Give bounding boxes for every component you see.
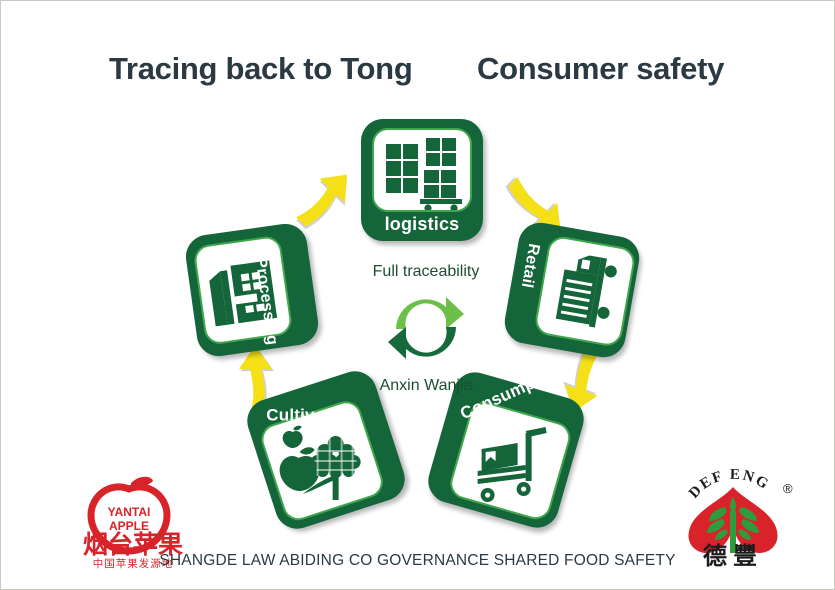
- page-title-right: Consumer safety: [477, 51, 724, 87]
- apple-tree-icon: [273, 412, 377, 512]
- logistics-icon-panel: [372, 128, 472, 212]
- footer-caption: SHANGDE LAW ABIDING CO GOVERNANCE SHARED…: [1, 552, 834, 570]
- registered-mark: ®: [783, 481, 793, 496]
- page-title-left: Tracing back to Tong: [109, 51, 412, 87]
- recycle-cycle-icon: [384, 285, 468, 369]
- node-label-logistics: logistics: [361, 214, 483, 235]
- pallet-boxes-icon: [374, 130, 472, 212]
- delivery-truck-icon: [535, 237, 637, 348]
- node-label-cultivation: Cultivation: [266, 405, 356, 425]
- node-label-retail: Retail: [517, 242, 543, 289]
- yantai-inner-line1: YANTAI: [108, 505, 151, 519]
- flow-node-retail[interactable]: Retail: [501, 219, 642, 360]
- flow-node-processing[interactable]: Processing: [183, 221, 321, 359]
- diagram-canvas: Tracing back to Tong Consumer safety: [0, 0, 835, 590]
- center-label-bottom: Anxin Wanjia: [356, 377, 496, 395]
- shopping-cart-icon: [460, 413, 564, 513]
- center-label-top: Full traceability: [356, 263, 496, 281]
- retail-icon-panel: [533, 234, 637, 348]
- center-cycle-block: Full traceability Anxin Wanjia: [356, 263, 496, 403]
- flow-node-logistics[interactable]: logistics: [361, 119, 483, 241]
